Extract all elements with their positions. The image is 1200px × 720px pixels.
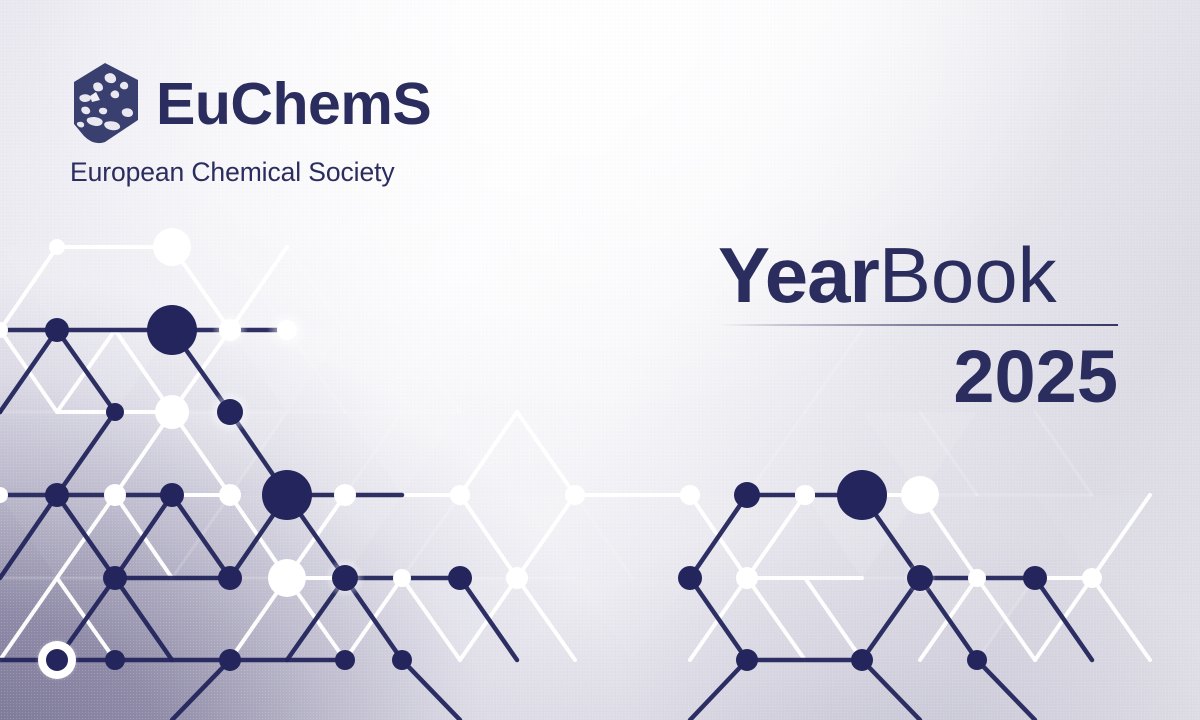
title-year-word: Year: [718, 231, 879, 319]
book-cover: EuChemS European Chemical Society YearBo…: [0, 0, 1200, 720]
title-divider-rule: [718, 324, 1118, 326]
brand-wordmark: EuChemS: [156, 75, 431, 134]
title-book-word: Book: [879, 231, 1057, 319]
europe-hexagon-icon: [66, 62, 144, 146]
yearbook-title: YearBook: [718, 236, 1118, 316]
brand-logo: EuChemS European Chemical Society: [66, 62, 431, 188]
edition-year: 2025: [718, 338, 1118, 416]
cover-title-block: YearBook 2025: [718, 236, 1118, 415]
brand-tagline: European Chemical Society: [70, 157, 395, 188]
